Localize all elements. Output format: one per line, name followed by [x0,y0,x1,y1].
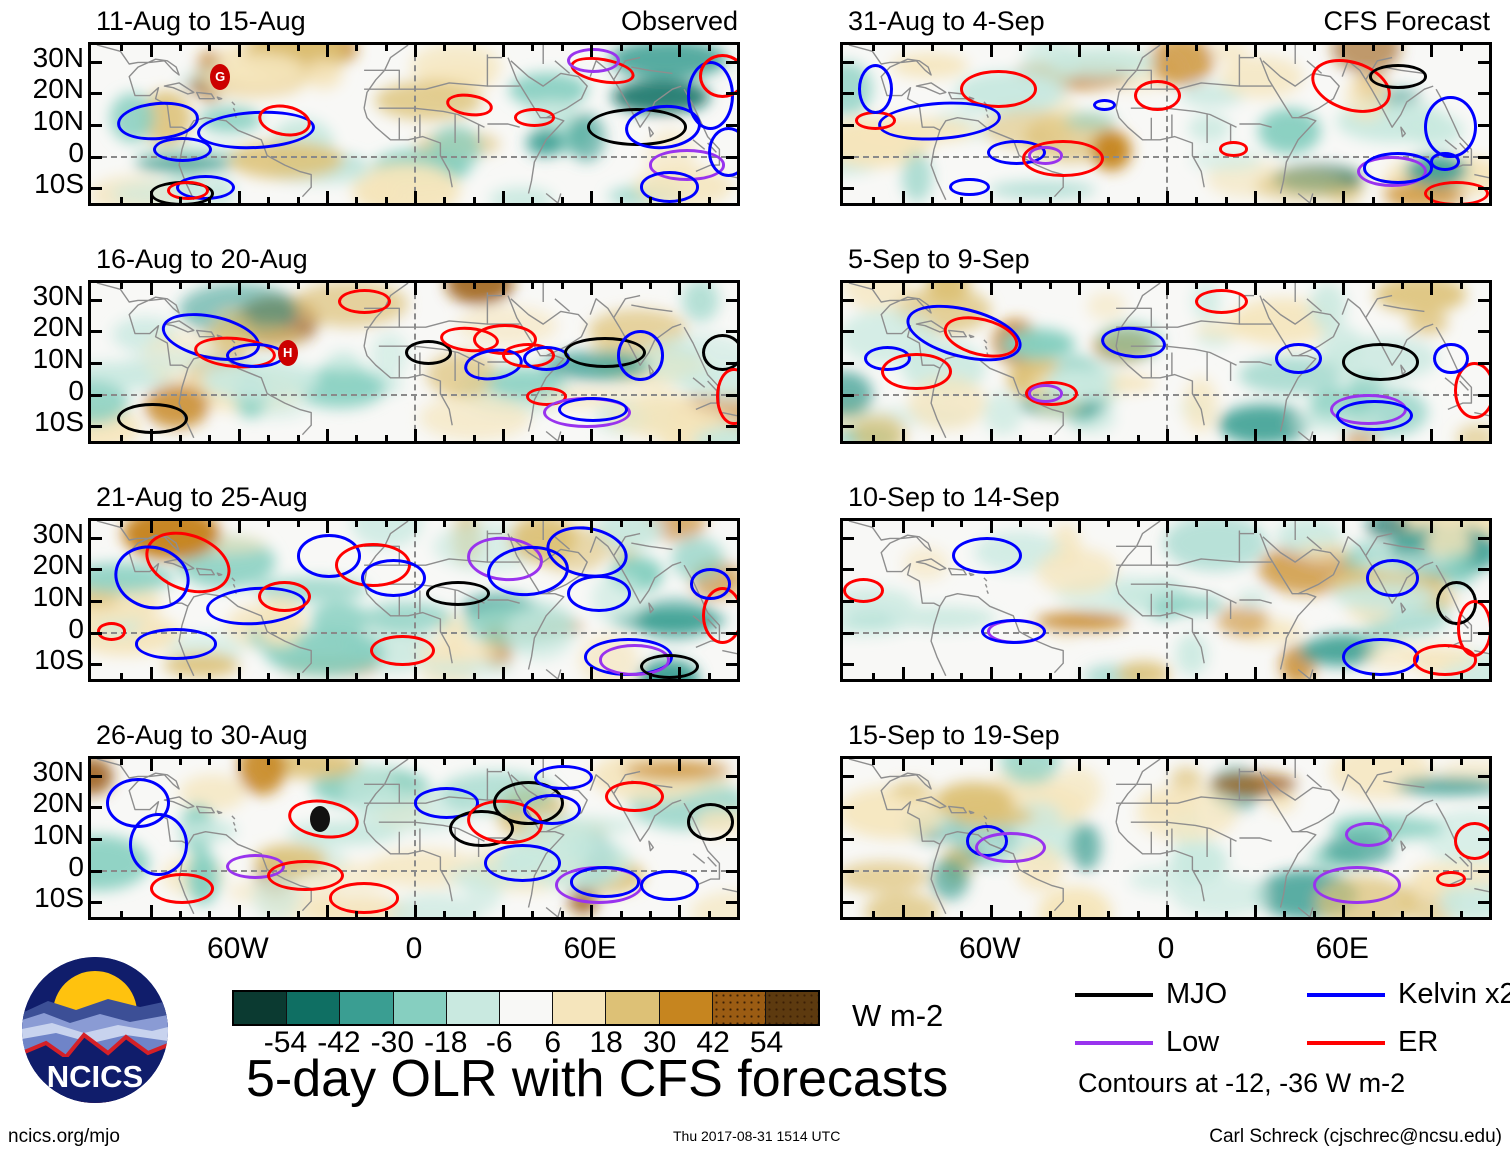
x-tick [990,283,993,295]
x-tick [649,197,652,203]
contour-er [1022,140,1104,178]
y-tick-label: 10S [34,170,84,198]
y-tick [91,632,102,635]
y-tick [726,775,737,778]
x-tick [414,283,417,295]
x-tick [1078,45,1081,57]
x-tick [1430,667,1433,679]
contour-er [1195,289,1248,314]
x-tick [238,521,241,533]
x-tick [297,197,300,203]
y-tick [1478,299,1489,302]
x-tick [590,429,593,441]
footer-text-row: ncics.org/mjo Thu 2017-08-31 1514 UTC Ca… [0,1127,1510,1158]
x-tick [531,283,534,289]
x-tick [385,283,388,289]
x-tick [990,759,993,771]
y-tick [1478,632,1489,635]
x-tick [1225,673,1228,679]
x-tick [1313,759,1316,765]
x-tick [355,521,358,527]
x-tick [1195,521,1198,527]
x-tick [620,197,623,203]
x-tick [1460,521,1463,527]
x-tick [902,667,905,679]
x-tick [1401,435,1404,441]
map-plot-area [840,756,1492,920]
panel-title: 31-Aug to 4-Sep [848,8,1045,35]
x-tick [1372,435,1375,441]
x-tick [531,197,534,203]
x-tick [1430,759,1433,771]
x-tick [443,197,446,203]
panel-8: 15-Sep to 19-Sep [840,722,1492,920]
panel-6: 5-Sep to 9-Sep [840,246,1492,444]
column-header-right: CFS Forecast [1323,8,1490,35]
x-tick [902,429,905,441]
x-tick [1137,45,1140,51]
contour-kelvin [640,870,699,901]
x-tick [238,283,241,295]
x-tick [208,673,211,679]
x-tick [179,197,182,203]
x-tick [1049,435,1052,441]
x-tick [931,673,934,679]
x-tick [238,429,241,441]
map-plot-area [840,280,1492,444]
y-tick [1478,330,1489,333]
x-tick [1078,521,1081,533]
y-tick-label: 20N [33,313,84,341]
colorbar-segment [234,992,287,1024]
x-tick [590,191,593,203]
x-tick [678,759,681,771]
x-tick [120,435,123,441]
x-tick [326,521,329,533]
x-tick [267,197,270,203]
x-tick [1372,521,1375,527]
x-tick [473,197,476,203]
y-tick [91,394,102,397]
x-tick [179,45,182,51]
y-axis-labels: 30N20N10N010S [2,42,84,206]
x-tick [120,521,123,527]
y-tick [91,838,102,841]
ncics-logo: NCICS [22,957,168,1103]
y-tick-label: 10N [33,107,84,135]
x-tick [1166,759,1169,771]
x-tick [150,283,153,295]
x-tick [473,45,476,51]
contour-er [370,635,435,666]
x-tick [872,45,875,51]
x-tick [1313,673,1316,679]
x-tick [931,435,934,441]
panel-7: 10-Sep to 14-Sep [840,484,1492,682]
x-tick [1137,435,1140,441]
x-tick [649,283,652,289]
x-tick [1313,521,1316,527]
contour-kelvin [981,619,1046,644]
x-tick [385,673,388,679]
panel-title: 5-Sep to 9-Sep [848,246,1030,273]
y-tick [843,775,854,778]
contour-mjo [1342,343,1418,381]
y-tick [726,394,737,397]
contour-kelvin [1342,638,1418,676]
x-tick [1019,45,1022,51]
y-tick-label: 0 [68,853,84,881]
x-tick [902,521,905,533]
x-tick [708,45,711,51]
x-tick [1401,521,1404,527]
y-tick [91,600,102,603]
x-tick [355,197,358,203]
x-tick [1460,759,1463,765]
x-tick [1401,45,1404,51]
contour-er [150,873,215,904]
y-tick [843,124,854,127]
x-tick [1225,759,1228,765]
map-plot-area [840,518,1492,682]
x-tick [150,429,153,441]
x-tick [326,191,329,203]
x-tick [931,521,934,527]
x-tick [267,521,270,527]
panel-title: 10-Sep to 14-Sep [848,484,1060,511]
y-tick [726,156,737,159]
y-tick [91,299,102,302]
x-tick [120,759,123,765]
x-tick [502,429,505,441]
y-tick [843,632,854,635]
x-tick [1342,759,1345,771]
x-tick [326,45,329,57]
x-tick [620,45,623,51]
storm-marker: G [210,64,230,90]
x-tick [960,521,963,527]
y-tick [726,330,737,333]
x-tick [1107,759,1110,765]
y-tick-label: 10N [33,583,84,611]
x-tick [1019,521,1022,527]
x-tick [931,759,934,765]
x-tick [1313,283,1316,289]
x-tick [1460,673,1463,679]
prime-meridian-line [414,45,416,203]
x-tick [990,521,993,533]
x-tick [414,667,417,679]
y-tick [1478,362,1489,365]
x-tick [473,435,476,441]
x-tick [1225,521,1228,527]
x-tick [872,759,875,765]
x-tick [1430,45,1433,57]
x-tick [208,283,211,289]
x-tick [443,283,446,289]
x-tick [1019,435,1022,441]
x-tick [649,435,652,441]
x-tick [1254,521,1257,533]
x-tick [1254,667,1257,679]
y-tick [1478,600,1489,603]
ncics-logo-graphic: NCICS [22,957,168,1103]
footer-author[interactable]: Carl Schreck (cjschrec@ncsu.edu) [1209,1127,1502,1146]
x-tick [297,521,300,527]
panel-title: 15-Sep to 19-Sep [848,722,1060,749]
x-tick [678,667,681,679]
contour-mjo [702,334,740,372]
x-tick [414,191,417,203]
x-tick [297,759,300,765]
legend-label: ER [1398,1028,1438,1057]
y-tick [726,299,737,302]
y-tick [91,156,102,159]
x-tick [1430,283,1433,295]
figure-main-title: 5-day OLR with CFS forecasts [246,1053,948,1105]
x-tick [708,283,711,289]
x-tick [1283,673,1286,679]
y-tick [843,299,854,302]
y-tick [1478,425,1489,428]
x-tick [649,521,652,527]
y-tick [726,187,737,190]
x-tick [443,45,446,51]
x-tick [678,191,681,203]
x-tick [1166,429,1169,441]
x-tick [1166,667,1169,679]
x-tick [1225,197,1228,203]
legend-label: Kelvin x2 [1398,980,1510,1009]
x-tick [1137,521,1140,527]
x-tick [902,759,905,771]
contour-kelvin [484,844,560,882]
panel-title: 26-Aug to 30-Aug [96,722,308,749]
x-tick [561,521,564,527]
contour-er [855,111,896,130]
y-tick [843,61,854,64]
panel-5: 31-Aug to 4-SepCFS Forecast [840,8,1492,206]
contour-er [258,581,311,612]
contour-level-note: Contours at -12, -36 W m-2 [1078,1070,1405,1097]
x-tick [1107,45,1110,51]
x-tick [414,521,417,533]
y-tick [843,537,854,540]
x-tick [385,521,388,527]
y-tick [843,330,854,333]
x-tick [473,759,476,765]
x-tick [1019,197,1022,203]
x-tick [120,673,123,679]
contour-kelvin [1093,99,1117,111]
y-tick-label: 30N [33,44,84,72]
x-tick [1019,673,1022,679]
footer-website[interactable]: ncics.org/mjo [8,1127,120,1146]
y-axis-labels: 30N20N10N010S [2,518,84,682]
legend-line-swatch [1075,993,1153,997]
y-tick [1478,156,1489,159]
y-tick-label: 10S [34,408,84,436]
x-tick [1166,45,1169,57]
x-tick [1166,283,1169,295]
x-tick [1137,283,1140,289]
x-tick [1342,521,1345,533]
legend-line-swatch [1075,1041,1153,1045]
x-tick [208,435,211,441]
x-tick [531,673,534,679]
y-tick [91,425,102,428]
x-tick [473,283,476,289]
x-tick [1166,521,1169,533]
y-tick-label: 30N [33,758,84,786]
panel-2: 16-Aug to 20-AugH [88,246,740,444]
contour-mjo [117,403,188,434]
x-tick [678,283,681,295]
x-tick [708,435,711,441]
contour-kelvin [1363,152,1434,183]
x-tick [561,283,564,289]
y-tick-label: 30N [33,520,84,548]
x-tick [708,521,711,527]
x-tick [326,429,329,441]
x-tick [649,673,652,679]
panel-title: 16-Aug to 20-Aug [96,246,308,273]
y-tick [726,806,737,809]
y-tick [726,632,737,635]
y-tick [1478,187,1489,190]
figure-footer-area: NCICS -54-42-30-18-6618304254 W m-2 5-da… [0,905,1510,1158]
y-tick [91,124,102,127]
map-plot-area: G [88,42,740,206]
x-tick [531,759,534,765]
y-tick [726,568,737,571]
x-tick [620,521,623,527]
x-tick [179,673,182,679]
y-tick [91,806,102,809]
x-tick [1137,759,1140,765]
y-tick [91,330,102,333]
x-tick [1137,197,1140,203]
x-tick [1283,759,1286,765]
x-tick [902,45,905,57]
y-tick [1478,537,1489,540]
y-tick [843,425,854,428]
legend-label: Low [1166,1028,1219,1057]
legend-entry-low: Low [1075,1028,1219,1057]
colorbar-segment [713,992,766,1024]
x-tick [931,283,934,289]
x-tick [902,191,905,203]
x-tick [355,435,358,441]
y-tick-label: 10S [34,646,84,674]
x-tick [990,191,993,203]
x-tick [561,197,564,203]
x-tick [1313,435,1316,441]
y-tick [91,92,102,95]
x-tick [960,197,963,203]
colorbar-segment [287,992,340,1024]
contour-kelvin [558,397,629,422]
x-tick [1078,429,1081,441]
x-tick [1460,283,1463,289]
prime-meridian-line [1166,45,1168,203]
x-tick [355,283,358,289]
panel-title: 21-Aug to 25-Aug [96,484,308,511]
x-tick [1078,283,1081,295]
colorbar-segment [340,992,393,1024]
y-tick [726,92,737,95]
x-tick [1225,283,1228,289]
x-tick [960,759,963,765]
x-tick [590,759,593,771]
contour-low [567,48,620,73]
x-tick [1372,45,1375,51]
contour-low [1028,384,1063,403]
x-tick [990,45,993,57]
y-tick [91,61,102,64]
map-plot-area [88,518,740,682]
prime-meridian-line [414,759,416,917]
x-tick [150,759,153,771]
x-tick [1225,435,1228,441]
panel-1: 11-Aug to 15-AugObservedG [88,8,740,206]
y-tick [1478,901,1489,904]
contour-kelvin [226,343,285,368]
y-tick [843,394,854,397]
x-tick [531,521,534,527]
contour-kelvin [570,866,641,897]
column-header-left: Observed [621,8,738,35]
x-tick [355,759,358,765]
y-tick [843,362,854,365]
x-tick [590,45,593,57]
x-tick [678,521,681,533]
x-tick [1049,283,1052,289]
x-tick [150,521,153,533]
x-tick [1049,197,1052,203]
colorbar-segment [766,992,818,1024]
y-tick [1478,61,1489,64]
x-tick [150,45,153,57]
x-tick [708,673,711,679]
y-tick-label: 10N [33,821,84,849]
x-tick [872,673,875,679]
x-tick [960,673,963,679]
x-tick [1342,191,1345,203]
y-tick [726,838,737,841]
x-tick [238,45,241,57]
contour-kelvin [1366,559,1419,597]
x-tick [1137,673,1140,679]
x-tick [1313,45,1316,51]
x-tick [267,45,270,51]
x-tick [414,45,417,57]
x-tick [1342,429,1345,441]
contour-kelvin [361,559,426,597]
x-tick [649,45,652,51]
legend-entry-er: ER [1307,1028,1438,1057]
x-tick [238,759,241,771]
x-tick [620,673,623,679]
y-tick [1478,124,1489,127]
x-tick [1430,191,1433,203]
x-tick [297,673,300,679]
panel-grid: 11-Aug to 15-AugObservedG30N20N10N010S16… [0,0,1510,905]
x-tick [960,435,963,441]
x-tick [1195,435,1198,441]
x-tick [872,283,875,289]
y-tick [843,838,854,841]
